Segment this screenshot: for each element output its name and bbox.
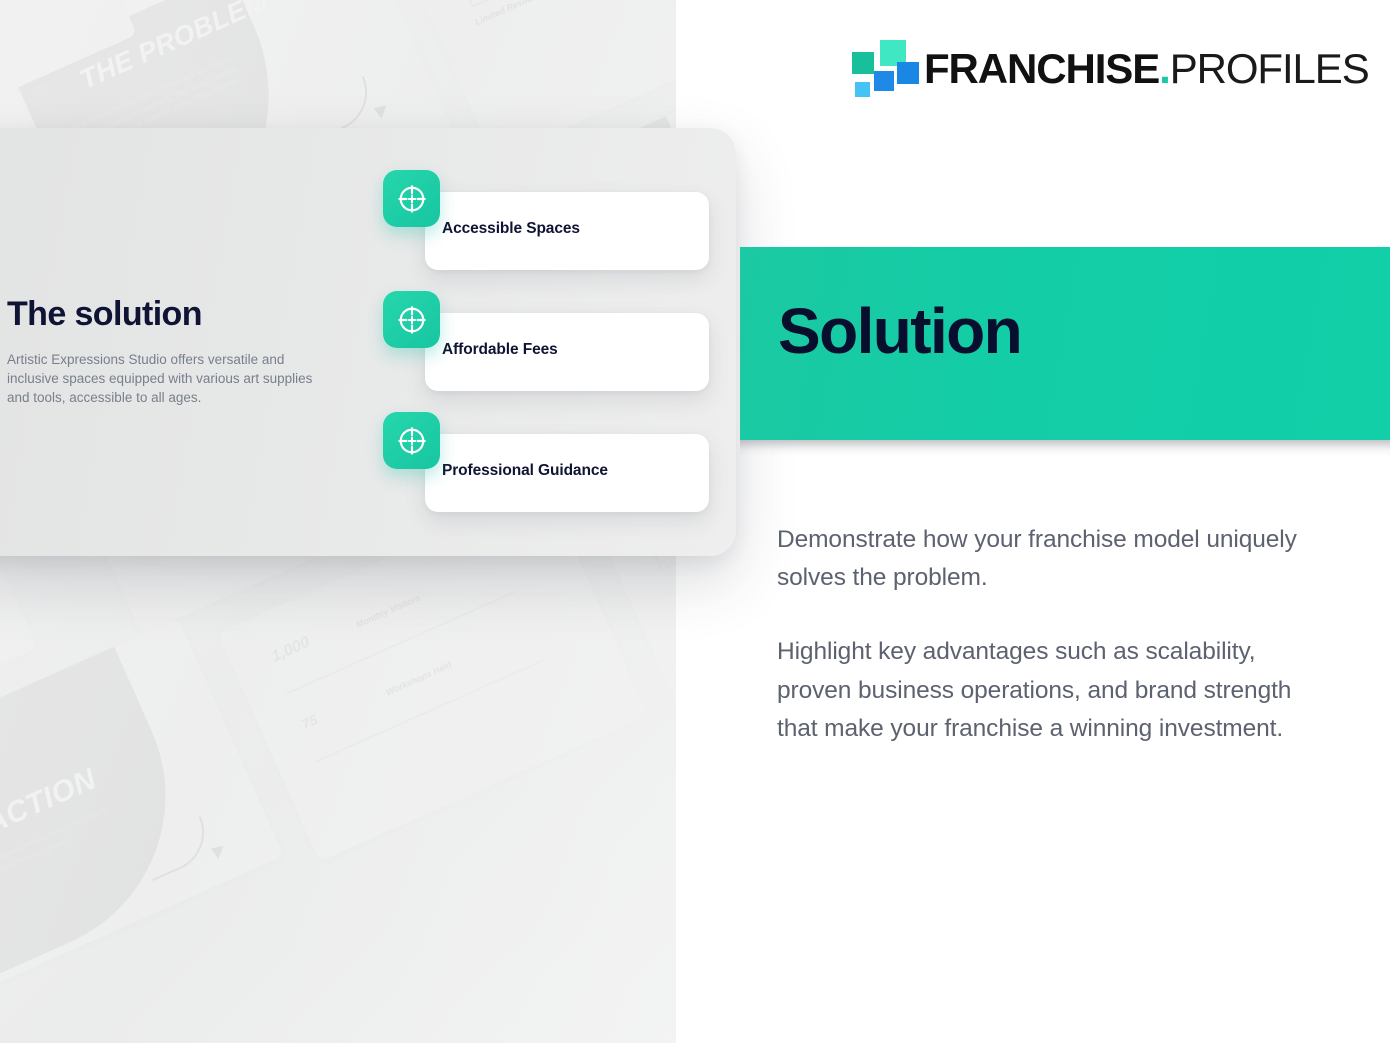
description-paragraph-1: Demonstrate how your franchise model uni…: [777, 521, 1322, 597]
logo-square-blue-mid: [874, 71, 894, 91]
slide-canvas: pitch deck THE PROBLEM Many individuals …: [0, 0, 1390, 1043]
section-banner: Solution: [740, 247, 1390, 440]
logo-square-blue-dark: [897, 62, 919, 84]
page-title: Solution: [778, 299, 1021, 363]
logo-square-teal-dark: [852, 52, 874, 74]
banner-drop-shadow: [740, 440, 1390, 456]
feature-label: Professional Guidance: [442, 462, 608, 480]
feature-row-professional-guidance[interactable]: Professional Guidance: [383, 412, 713, 512]
description-block: Demonstrate how your franchise model uni…: [777, 521, 1322, 748]
crosshair-target-icon: [383, 291, 440, 348]
description-paragraph-2: Highlight key advantages such as scalabi…: [777, 633, 1322, 748]
logo-text-franchise: FRANCHISE: [924, 48, 1159, 90]
feature-row-accessible-spaces[interactable]: Accessible Spaces: [383, 170, 713, 270]
logo-mark-icon: [852, 40, 908, 98]
logo-square-blue-light: [855, 82, 870, 97]
slide-preview-subtext: Artistic Expressions Studio offers versa…: [7, 350, 327, 407]
logo-wordmark: FRANCHISE . PROFILES: [924, 48, 1369, 90]
slide-preview-heading: The solution: [7, 295, 202, 334]
slide-preview-card: The solution Artistic Expressions Studio…: [0, 128, 736, 556]
brand-logo[interactable]: FRANCHISE . PROFILES: [852, 40, 1369, 98]
feature-label: Affordable Fees: [442, 341, 558, 359]
crosshair-target-icon: [383, 412, 440, 469]
logo-text-profiles: PROFILES: [1170, 48, 1369, 90]
feature-label: Accessible Spaces: [442, 220, 580, 238]
feature-row-affordable-fees[interactable]: Affordable Fees: [383, 291, 713, 391]
crosshair-target-icon: [383, 170, 440, 227]
logo-text-dot: .: [1159, 48, 1170, 90]
